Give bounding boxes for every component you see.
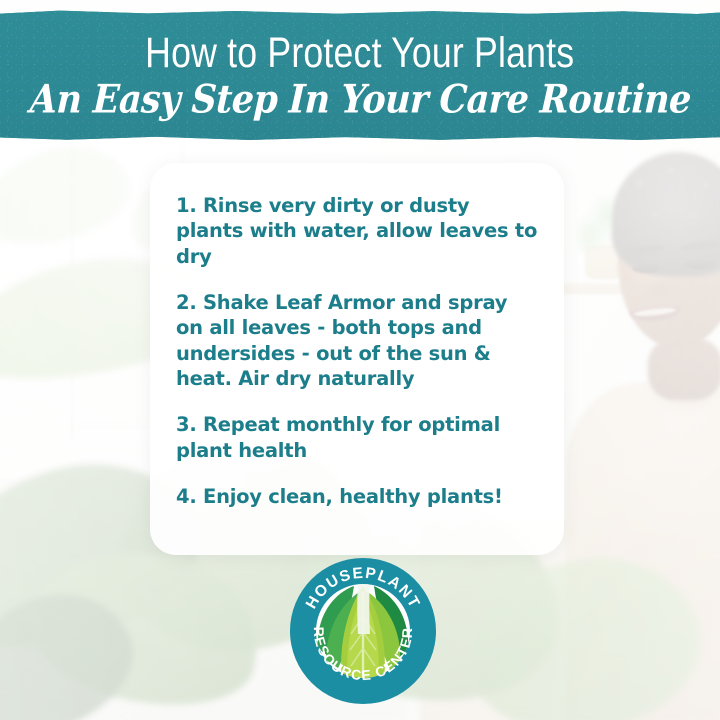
header-banner: How to Protect Your Plants An Easy Step … [0, 10, 720, 141]
page-subtitle: An Easy Step In Your Care Routine [29, 79, 692, 118]
step-item: 2. Shake Leaf Armor and spray on all lea… [176, 290, 538, 391]
houseplant-resource-center-logo: HOUSEPLANT RESOURCE CENTER [288, 556, 438, 706]
instructions-card: 1. Rinse very dirty or dusty plants with… [150, 163, 564, 555]
infographic-poster: How to Protect Your Plants An Easy Step … [0, 0, 720, 720]
step-item: 4. Enjoy clean, healthy plants! [176, 484, 538, 509]
steps-list: 1. Rinse very dirty or dusty plants with… [176, 193, 538, 509]
step-item: 3. Repeat monthly for optimal plant heal… [176, 412, 538, 463]
page-title: How to Protect Your Plants [145, 31, 574, 73]
step-item: 1. Rinse very dirty or dusty plants with… [176, 193, 538, 269]
